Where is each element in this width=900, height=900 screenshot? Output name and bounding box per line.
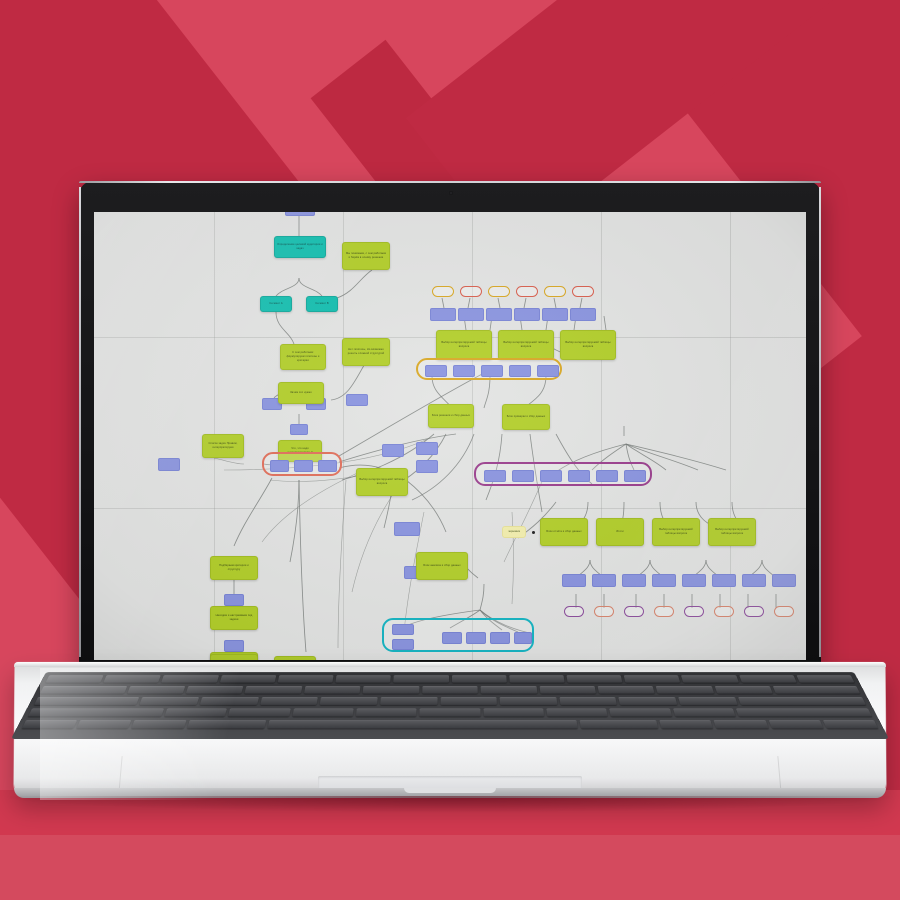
- blue-node[interactable]: [682, 574, 706, 587]
- pill-red[interactable]: [460, 286, 482, 297]
- pill-red[interactable]: [572, 286, 594, 297]
- pill-salmon[interactable]: [714, 606, 734, 617]
- green-card[interactable]: Выбор интерпретируемой таблицы вопроса: [498, 330, 554, 360]
- green-card[interactable]: Выбор интерпретируемой таблицы вопроса: [436, 330, 492, 360]
- key[interactable]: [598, 686, 655, 694]
- pill-red[interactable]: [516, 286, 538, 297]
- key[interactable]: [245, 686, 302, 694]
- pill-salmon[interactable]: [594, 606, 614, 617]
- blue-node[interactable]: [772, 574, 796, 587]
- blue-node[interactable]: [158, 458, 180, 471]
- blue-node[interactable]: [394, 522, 420, 536]
- key[interactable]: [260, 697, 318, 705]
- webcam-icon: [449, 191, 453, 195]
- base-front-notch: [404, 788, 496, 793]
- key[interactable]: [739, 675, 797, 682]
- blue-node[interactable]: [592, 574, 616, 587]
- pill-salmon[interactable]: [774, 606, 794, 617]
- key[interactable]: [336, 675, 392, 682]
- green-card-label: Выбор интерпретируемой таблицы вопроса: [499, 331, 553, 359]
- blue-node[interactable]: [294, 460, 313, 472]
- green-card-label: [275, 657, 315, 660]
- blue-node[interactable]: [392, 639, 414, 650]
- green-card-label: Зачем это нужно: [279, 383, 323, 403]
- blue-node[interactable]: [453, 365, 475, 377]
- green-card[interactable]: Выбор интерпретируемой таблицы вопроса: [708, 518, 756, 546]
- blue-node[interactable]: [562, 574, 586, 587]
- key[interactable]: [681, 675, 738, 682]
- blue-node[interactable]: [224, 640, 244, 652]
- blue-node[interactable]: [512, 470, 534, 482]
- pill-purple[interactable]: [744, 606, 764, 617]
- key[interactable]: [509, 675, 565, 682]
- connector-wires: [94, 212, 806, 660]
- key-fn[interactable]: [22, 720, 77, 728]
- keyboard[interactable]: [11, 672, 889, 739]
- key[interactable]: [481, 686, 537, 694]
- teal-card-label: Сегмент B: [307, 297, 337, 311]
- blue-node[interactable]: [484, 470, 506, 482]
- green-card[interactable]: Выбор интерпретируемой таблицы вопроса: [356, 468, 408, 496]
- key[interactable]: [200, 697, 259, 705]
- green-card-label: Находим и настраиваем под задачи: [211, 607, 257, 629]
- cyan-group[interactable]: [382, 618, 534, 652]
- green-card-label: С чем работаем: формулируем гипотезы и к…: [281, 345, 325, 369]
- key[interactable]: [673, 708, 736, 716]
- key[interactable]: [320, 697, 378, 705]
- green-card[interactable]: Список задач Правим, интерпретируем: [202, 434, 244, 458]
- lid-edge-right: [819, 187, 821, 657]
- blue-node[interactable]: [481, 365, 503, 377]
- key[interactable]: [559, 697, 617, 705]
- key[interactable]: [162, 675, 219, 682]
- key[interactable]: [483, 708, 544, 716]
- blue-node[interactable]: [416, 442, 438, 455]
- blue-node[interactable]: [392, 624, 414, 635]
- key[interactable]: [45, 675, 103, 682]
- amber-group[interactable]: [416, 358, 562, 380]
- green-card[interactable]: Блок отчёта и сбор данных: [540, 518, 588, 546]
- green-card[interactable]: Мы понимаем, с чем работаем и берём в ос…: [342, 242, 390, 270]
- key-option[interactable]: [132, 720, 186, 728]
- pill-amber[interactable]: [432, 286, 454, 297]
- key[interactable]: [165, 708, 228, 716]
- key-return[interactable]: [738, 697, 866, 705]
- key[interactable]: [624, 675, 681, 682]
- pill-purple[interactable]: [624, 606, 644, 617]
- green-card[interactable]: Подбираем критерии и структуру: [210, 556, 258, 580]
- green-card[interactable]: Выбор интерпретируемой таблицы вопроса: [560, 330, 616, 360]
- key[interactable]: [380, 697, 437, 705]
- blue-node[interactable]: [270, 460, 289, 472]
- green-card[interactable]: Блок проверки и сбор данных: [502, 404, 550, 430]
- green-card[interactable]: С чем работаем: формулируем гипотезы и к…: [280, 344, 326, 370]
- green-card-label: Блок отчёта и сбор данных: [541, 519, 587, 545]
- blue-node[interactable]: [509, 365, 531, 377]
- green-card[interactable]: Находим и настраиваем под задачи: [210, 606, 258, 630]
- key-caps[interactable]: [34, 697, 140, 705]
- key-shift-left[interactable]: [28, 708, 164, 716]
- green-card[interactable]: Итоги: [596, 518, 644, 546]
- green-card[interactable]: Блок решения и сбор данных: [428, 404, 474, 428]
- key[interactable]: [609, 708, 671, 716]
- key[interactable]: [304, 686, 361, 694]
- blue-node[interactable]: [458, 308, 484, 321]
- green-card-label: Итоги: [211, 655, 257, 660]
- key-shift-right[interactable]: [736, 708, 872, 716]
- green-card-label: Выбор интерпретируемой таблицы вопроса: [709, 519, 755, 545]
- green-card-label: Мы понимаем, с чем работаем и берём в ос…: [343, 243, 389, 269]
- key[interactable]: [566, 675, 622, 682]
- base-drop-shadow: [10, 796, 890, 812]
- green-card-label: Нет гипотезы, Но возможно решить сложной…: [343, 339, 389, 365]
- base-top-edge: [14, 662, 886, 667]
- green-card-label: Выбор интерпретируемой таблицы вопроса: [561, 331, 615, 359]
- green-card[interactable]: [274, 656, 316, 660]
- key[interactable]: [220, 675, 277, 682]
- pale-note[interactable]: черновик: [502, 526, 526, 538]
- blue-node[interactable]: [486, 308, 512, 321]
- green-card-label: Подбираем критерии и структуру: [211, 557, 257, 579]
- key[interactable]: [394, 675, 449, 682]
- blue-node[interactable]: [416, 460, 438, 473]
- blue-node[interactable]: [318, 460, 337, 472]
- blue-node[interactable]: [568, 470, 590, 482]
- red-group[interactable]: [262, 452, 342, 476]
- blue-node[interactable]: [290, 424, 308, 435]
- key[interactable]: [292, 708, 354, 716]
- blue-node[interactable]: [514, 308, 540, 321]
- pill-amber[interactable]: [488, 286, 510, 297]
- blue-node[interactable]: [570, 308, 596, 321]
- green-card[interactable]: Блок анализа и сбор данных: [416, 552, 468, 580]
- blue-node[interactable]: [596, 470, 618, 482]
- key-backslash[interactable]: [773, 686, 860, 694]
- purple-group[interactable]: [474, 462, 652, 486]
- arrow-dot-icon: [532, 531, 535, 534]
- blue-node[interactable]: [537, 365, 559, 377]
- blue-node[interactable]: [430, 308, 456, 321]
- key[interactable]: [103, 675, 161, 682]
- key-tab[interactable]: [40, 686, 127, 694]
- key[interactable]: [140, 697, 199, 705]
- pill-purple[interactable]: [564, 606, 584, 617]
- key[interactable]: [500, 697, 557, 705]
- teal-card[interactable]: Определение целевой аудитории и задач: [274, 236, 326, 258]
- key[interactable]: [440, 697, 497, 705]
- lid-edge-left: [79, 187, 81, 657]
- green-card-label: Выбор интерпретируемой таблицы вопроса: [653, 519, 699, 545]
- pill-purple[interactable]: [684, 606, 704, 617]
- key-option-right[interactable]: [660, 720, 714, 728]
- blue-node[interactable]: [540, 470, 562, 482]
- blue-node[interactable]: [622, 574, 646, 587]
- key[interactable]: [715, 686, 774, 694]
- green-card-label: Блок анализа и сбор данных: [417, 553, 467, 579]
- teal-card[interactable]: Сегмент B: [306, 296, 338, 312]
- key[interactable]: [656, 686, 714, 694]
- key[interactable]: [452, 675, 507, 682]
- green-card-label: Блок решения и сбор данных: [429, 405, 473, 427]
- key[interactable]: [363, 686, 419, 694]
- key[interactable]: [678, 697, 737, 705]
- blue-node[interactable]: [652, 574, 676, 587]
- key[interactable]: [186, 686, 244, 694]
- key-command-right[interactable]: [580, 720, 659, 728]
- blue-node[interactable]: [442, 632, 462, 644]
- green-card-label: Выбор интерпретируемой таблицы вопроса: [437, 331, 491, 359]
- green-card[interactable]: Зачем это нужно: [278, 382, 324, 404]
- blue-node[interactable]: [490, 632, 510, 644]
- green-card[interactable]: Выбор интерпретируемой таблицы вопроса: [652, 518, 700, 546]
- green-card-label: Итоги: [597, 519, 643, 545]
- blue-node[interactable]: [742, 574, 766, 587]
- blue-node[interactable]: [382, 444, 404, 457]
- key-ctrl[interactable]: [77, 720, 132, 728]
- key[interactable]: [539, 686, 596, 694]
- pill-amber[interactable]: [544, 286, 566, 297]
- blue-node[interactable]: [542, 308, 568, 321]
- key-space[interactable]: [267, 720, 577, 728]
- blue-node[interactable]: [425, 365, 447, 377]
- pill-salmon[interactable]: [654, 606, 674, 617]
- green-card[interactable]: Нет гипотезы, Но возможно решить сложной…: [342, 338, 390, 366]
- key[interactable]: [420, 708, 481, 716]
- key-command-left[interactable]: [187, 720, 266, 728]
- key[interactable]: [278, 675, 334, 682]
- green-card-label: Выбор интерпретируемой таблицы вопроса: [357, 469, 407, 495]
- key[interactable]: [422, 686, 478, 694]
- green-card-label: Список задач Правим, интерпретируем: [203, 435, 243, 457]
- green-card[interactable]: Итоги: [210, 654, 258, 660]
- key[interactable]: [546, 708, 608, 716]
- key-arrow-left[interactable]: [714, 720, 768, 728]
- blue-node[interactable]: [224, 594, 244, 606]
- blue-node[interactable]: [346, 394, 368, 406]
- laptop-device: Определение целевой аудитории и задач Се…: [0, 0, 900, 900]
- key-arrow-right[interactable]: [823, 720, 878, 728]
- teal-card[interactable]: Сегмент A: [260, 296, 292, 312]
- key[interactable]: [796, 675, 854, 682]
- key-arrow-updown[interactable]: [768, 720, 823, 728]
- scene: Определение целевой аудитории и задач Се…: [0, 0, 900, 900]
- key[interactable]: [619, 697, 678, 705]
- blue-node[interactable]: [514, 632, 532, 644]
- blue-node[interactable]: [285, 212, 315, 216]
- blue-node[interactable]: [712, 574, 736, 587]
- green-card-label: Блок проверки и сбор данных: [503, 405, 549, 429]
- pale-note-label: черновик: [503, 527, 525, 537]
- blue-node[interactable]: [466, 632, 486, 644]
- key[interactable]: [228, 708, 290, 716]
- teal-card-label: Определение целевой аудитории и задач: [275, 237, 325, 257]
- blue-node[interactable]: [624, 470, 646, 482]
- laptop-screen[interactable]: Определение целевой аудитории и задач Се…: [94, 212, 806, 660]
- teal-card-label: Сегмент A: [261, 297, 291, 311]
- key[interactable]: [127, 686, 186, 694]
- key[interactable]: [356, 708, 417, 716]
